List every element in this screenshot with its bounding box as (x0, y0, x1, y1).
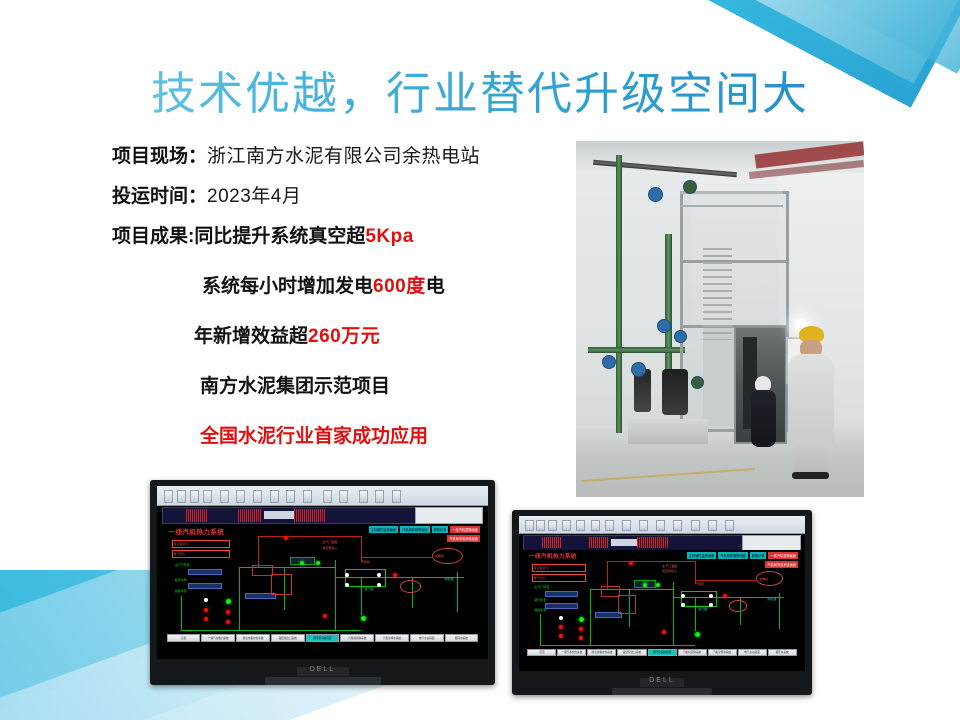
scada-label: 真空泵投入 (662, 569, 677, 573)
scada-nav-button[interactable]: 首页 (527, 649, 556, 656)
scada-button-bar[interactable]: 首页 一期汽水热力系统 除氧水箱水位系统 凝结泵出口系统 循环泵系统画面 汽轮机… (167, 634, 478, 642)
scada-nav-button-active[interactable]: 循环泵系统画面 (306, 634, 340, 642)
result-line2-highlight: 600度 (373, 276, 426, 297)
result-row-5: 全国水泥行业首家成功应用 (112, 420, 532, 454)
result-row-1: 项目成果:同比提升系统真空超5Kpa (112, 220, 532, 254)
scada-button-bar[interactable]: 首页 一期汽水热力系统 除氧水箱水位系统 凝结泵出口系统 循环泵系统画面 汽轮机… (527, 649, 796, 656)
monitor-secondary-screen[interactable]: 一线汽机热力系统 主机辅件监视画面 汽机故障报警画面 趋势记录 一线汽机逻辑画面… (519, 516, 805, 671)
scada-toolbar[interactable] (519, 516, 805, 534)
result-line1-text: 同比提升系统真空超 (194, 226, 365, 247)
scada-nav-button[interactable]: 电气主功画面 (410, 634, 444, 642)
scada-nav-button[interactable]: 电气主功画面 (738, 649, 767, 656)
scada-tag[interactable]: 汽机故障报警画面 (400, 526, 430, 533)
result-label: 项目成果: (112, 226, 194, 247)
scada-nav-button[interactable]: 除氧水箱水位系统 (236, 634, 270, 642)
result-row-2: 系统每小时增加发电600度电 (112, 270, 532, 304)
scada-diagram[interactable]: 一线汽机热力系统 主机辅件监视画面 汽机故障报警画面 趋势记录 一线汽机逻辑画面… (519, 516, 805, 671)
scada-nav-button[interactable]: 循环水系统 (445, 634, 479, 642)
result-row-3: 年新增效益超260万元 (112, 320, 532, 354)
result-row-4: 南方水泥集团示范项目 (112, 370, 532, 404)
scada-nav-button[interactable]: 一期汽水热力系统 (557, 649, 586, 656)
scada-alarm-band (162, 507, 416, 525)
scada-label: 主汽门温度 (662, 564, 677, 568)
scada-tag[interactable]: 汽机润滑油系统画面 (765, 561, 798, 568)
fact-value-date: 2023年4月 (207, 186, 301, 207)
scada-tag-group[interactable]: 主机辅件监视画面 汽机故障报警画面 趋势记录 一线汽机逻辑画面 汽机润滑油系统画… (345, 526, 480, 542)
monitor-brand-label: DELL (512, 677, 812, 684)
scada-tag[interactable]: 一线汽机逻辑画面 (768, 552, 798, 559)
scada-label: 凝汽器 (698, 607, 707, 611)
scada-tag-group[interactable]: 主机辅件监视画面 汽机故障报警画面 趋势记录 一线汽机逻辑画面 汽机润滑油系统画… (681, 552, 798, 568)
monitor-brand-label: DELL (150, 666, 495, 673)
scada-label: 汽轮机 (361, 560, 370, 564)
scada-box: 排汽压力 (172, 550, 231, 558)
fact-value-site: 浙江南方水泥有限公司余热电站 (207, 146, 480, 167)
scada-tag[interactable]: 汽机故障报警画面 (718, 552, 748, 559)
scada-nav-button[interactable]: 汽轮机润滑系统 (340, 634, 374, 642)
result-line1-highlight: 5Kpa (365, 226, 413, 247)
monitor-primary-screen[interactable]: 一线汽机热力系统 主机辅件监视画面 汽机故障报警画面 趋势记录 一线汽机逻辑画面… (157, 486, 488, 659)
scada-nav-button[interactable]: 汽轮机润滑系统 (678, 649, 707, 656)
scada-nav-button[interactable]: 循环水系统 (768, 649, 797, 656)
scada-label: 真空泵投入 (323, 546, 338, 550)
result-line3-text: 年新增效益超 (194, 326, 308, 347)
scada-nav-button-active[interactable]: 循环泵系统画面 (648, 649, 677, 656)
scada-canvas[interactable]: 一线汽机热力系统 主机辅件监视画面 汽机故障报警画面 趋势记录 一线汽机逻辑画面… (162, 524, 483, 643)
result-line2-text: 系统每小时增加发电 (202, 276, 373, 297)
scada-title: 一线汽机热力系统 (168, 526, 224, 536)
slide-title: 技术优越，行业替代升级空间大 (0, 66, 960, 122)
scada-toolbar[interactable] (157, 486, 488, 506)
worker-figure (783, 326, 838, 479)
monitor-primary: 一线汽机热力系统 主机辅件监视画面 汽机故障报警画面 趋势记录 一线汽机逻辑画面… (150, 480, 495, 685)
fact-row-site: 项目现场：浙江南方水泥有限公司余热电站 (112, 140, 532, 174)
scada-tag[interactable]: 汽机润滑油系统画面 (447, 535, 480, 542)
scada-box: 真空度显示 (172, 540, 231, 548)
scada-clock-panel (415, 507, 483, 525)
fact-label-site: 项目现场： (112, 146, 207, 167)
scada-label: 主汽门开度 (175, 563, 190, 567)
scada-label: 汽轮机 (695, 582, 704, 586)
fact-label-date: 投运时间： (112, 186, 207, 207)
scada-nav-button[interactable]: 除氧水箱水位系统 (587, 649, 616, 656)
scada-tag[interactable]: 主机辅件监视画面 (687, 552, 717, 559)
fact-row-date: 投运时间：2023年4月 (112, 180, 532, 214)
site-photo (576, 141, 864, 497)
scada-nav-button[interactable]: 凝结泵出口系统 (617, 649, 646, 656)
monitor-secondary: 一线汽机热力系统 主机辅件监视画面 汽机故障报警画面 趋势记录 一线汽机逻辑画面… (512, 510, 812, 695)
scada-box: 真空度显示 (532, 564, 586, 572)
scada-label: 循环水泵 (175, 578, 187, 582)
content-text-block: 项目现场：浙江南方水泥有限公司余热电站 投运时间：2023年4月 项目成果:同比… (112, 140, 532, 454)
scada-nav-button[interactable]: 一期汽水热力系统 (201, 634, 235, 642)
scada-alarm-band (523, 535, 742, 551)
result-line2-tail: 电 (426, 276, 445, 297)
scada-tag[interactable]: 主机辅件监视画面 (369, 526, 399, 533)
scada-title: 一线汽机热力系统 (529, 552, 577, 560)
scada-box: 排汽压力 (532, 574, 586, 582)
scada-label: 凝汽器 (364, 587, 373, 591)
slide-root: 技术优越，行业替代升级空间大 项目现场：浙江南方水泥有限公司余热电站 投运时间：… (0, 0, 960, 720)
scada-label: 凝结水泵 (175, 589, 187, 593)
result-line3-highlight: 260万元 (308, 326, 380, 347)
scada-label: 主汽门温度 (323, 540, 338, 544)
scada-diagram[interactable]: 一线汽机热力系统 主机辅件监视画面 汽机故障报警画面 趋势记录 一线汽机逻辑画面… (157, 486, 488, 659)
scada-nav-button[interactable]: 首页 (167, 634, 201, 642)
scada-tag[interactable]: 一线汽机逻辑画面 (450, 526, 480, 533)
scada-canvas[interactable]: 一线汽机热力系统 主机辅件监视画面 汽机故障报警画面 趋势记录 一线汽机逻辑画面… (523, 550, 800, 657)
scada-nav-button[interactable]: 汽机冷却水系统 (375, 634, 409, 642)
scada-nav-button[interactable]: 汽机冷却水系统 (708, 649, 737, 656)
scada-label: 主汽门开度 (534, 585, 549, 589)
scada-tag[interactable]: 趋势记录 (750, 552, 767, 559)
scada-nav-button[interactable]: 凝结泵出口系统 (271, 634, 305, 642)
scada-clock-panel (742, 535, 801, 551)
scada-tag[interactable]: 趋势记录 (432, 526, 449, 533)
